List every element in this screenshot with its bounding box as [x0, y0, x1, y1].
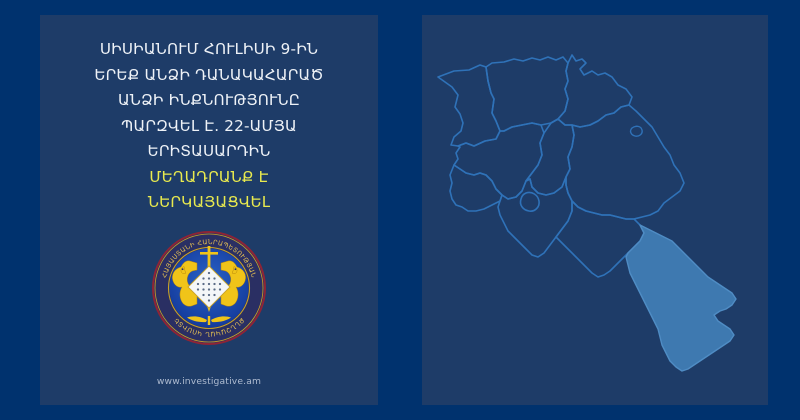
headline-highlight-line-2: ՆԵՐԿԱՅԱՑՎԵԼ: [53, 190, 365, 216]
map-region-syunik-highlighted: [626, 225, 736, 371]
map-region-gegharkunik: [566, 105, 684, 219]
headline-highlight-line-1: ՄԵՂԱԴՐԱՆՔ Է: [53, 165, 365, 191]
headline-line-1: ՍԻՍԻԱՆՈՒՄ ՀՈՒԼԻՍԻ 9-ԻՆ: [53, 37, 365, 63]
armenia-map: [422, 15, 768, 405]
announcement-panel: ՍԻՍԻԱՆՈՒՄ ՀՈՒԼԻՍԻ 9-ԻՆ ԵՐԵՔ ԱՆՁԻ ԴԱՆԱԿԱՀ…: [40, 15, 378, 405]
page-title: ՍԻՍԻԱՆՈՒՄ ՀՈՒԼԻՍԻ 9-ԻՆ ԵՐԵՔ ԱՆՁԻ ԴԱՆԱԿԱՀ…: [53, 37, 365, 216]
map-region-yerevan: [520, 192, 539, 211]
map-region-armavir: [450, 165, 502, 211]
map-lake-sevan-islet: [631, 126, 643, 136]
headline-line-5: ԵՐԻՏԱՍԱՐԴԻՆ: [53, 139, 365, 165]
headline-line-3: ԱՆՁԻ ԻՆՔՆՈՒԹՅՈՒՆԸ: [53, 88, 365, 114]
map-region-tavush: [558, 55, 632, 127]
headline-line-2: ԵՐԵՔ ԱՆՁԻ ԴԱՆԱԿԱՀԱՐԱԾ: [53, 63, 365, 89]
map-region-aragatsotn: [454, 123, 544, 199]
website-url: www.investigative.am: [40, 376, 378, 387]
map-region-ararat: [498, 177, 572, 257]
poster-canvas: ՍԻՍԻԱՆՈՒՄ ՀՈՒԼԻՍԻ 9-ԻՆ ԵՐԵՔ ԱՆՁԻ ԴԱՆԱԿԱՀ…: [0, 0, 800, 420]
investigative-committee-emblem-icon: ՀԱՅԱՍՏԱՆԻ ՀԱՆՐԱՊԵՏՈՒԹՅԱՆ ՔՆՆՉԱԿԱՆ ԿՈՄԻՏԵ: [151, 230, 267, 346]
map-region-shirak: [438, 65, 500, 146]
headline-line-4: ՊԱՐԶՎԵԼ Է. 22-ԱՄՅԱ: [53, 114, 365, 140]
map-panel: [422, 15, 768, 405]
